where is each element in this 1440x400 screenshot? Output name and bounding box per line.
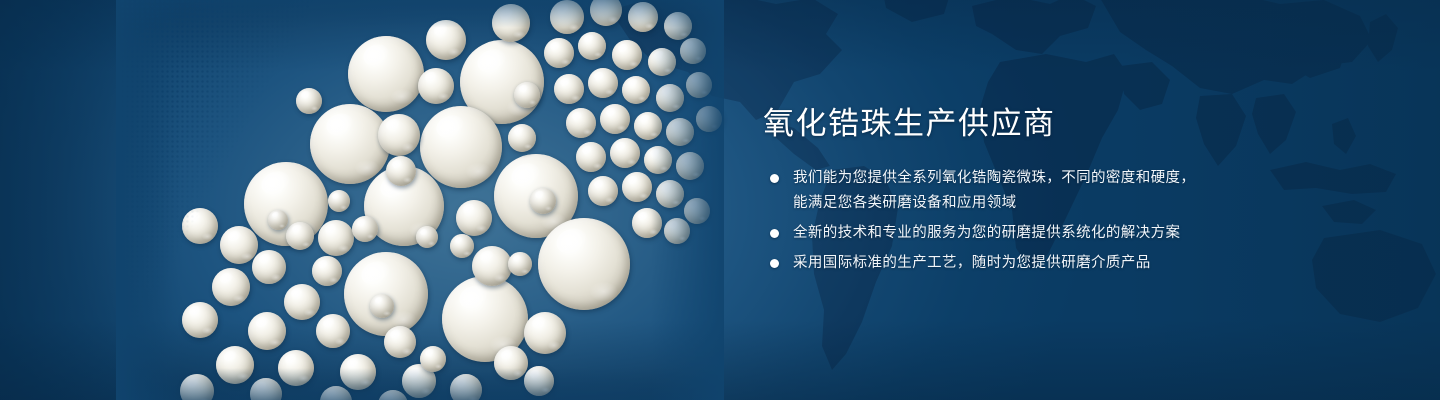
bead-small bbox=[320, 386, 352, 400]
bead-medium bbox=[318, 220, 354, 256]
bead-medium bbox=[456, 200, 492, 236]
bead-small bbox=[656, 84, 684, 112]
bead-medium bbox=[252, 250, 286, 284]
bullet-dot-icon bbox=[770, 259, 779, 268]
bead-medium bbox=[472, 246, 512, 286]
bead-small bbox=[648, 48, 676, 76]
bead-small bbox=[544, 38, 574, 68]
bead-medium bbox=[508, 124, 536, 152]
zirconia-beads-photo bbox=[120, 0, 720, 400]
bead-small bbox=[420, 346, 446, 372]
bead-small bbox=[550, 0, 584, 34]
bead-small bbox=[632, 208, 662, 238]
bead-medium bbox=[378, 114, 420, 156]
bead-small bbox=[588, 68, 618, 98]
bead-medium bbox=[340, 354, 376, 390]
bead-small bbox=[370, 294, 394, 318]
bead-small bbox=[600, 104, 630, 134]
bead-medium bbox=[220, 226, 258, 264]
bead-small bbox=[628, 2, 658, 32]
banner-headline: 氧化锆珠生产供应商 bbox=[763, 104, 1233, 144]
bead-small bbox=[634, 112, 662, 140]
bead-small bbox=[610, 138, 640, 168]
bead-medium bbox=[524, 312, 566, 354]
bead-small bbox=[622, 172, 652, 202]
bead-small bbox=[664, 218, 690, 244]
bead-medium bbox=[494, 346, 528, 380]
banner-copy: 氧化锆珠生产供应商 我们能为您提供全系列氧化锆陶瓷微珠，不同的密度和硬度， 能满… bbox=[763, 104, 1233, 281]
feature-text-line: 采用国际标准的生产工艺，随时为您提供研磨介质产品 bbox=[793, 251, 1233, 276]
bead-small bbox=[664, 12, 692, 40]
bead-small bbox=[666, 118, 694, 146]
bead-medium bbox=[492, 4, 530, 42]
bead-small bbox=[524, 366, 554, 396]
bead-medium bbox=[284, 284, 320, 320]
bullet-dot-icon bbox=[770, 174, 779, 183]
bead-small bbox=[450, 374, 482, 400]
bead-large bbox=[538, 218, 630, 310]
bead-medium bbox=[384, 326, 416, 358]
bead-medium bbox=[316, 314, 350, 348]
bullet-dot-icon bbox=[770, 229, 779, 238]
bead-small bbox=[576, 142, 606, 172]
feature-list: 我们能为您提供全系列氧化锆陶瓷微珠，不同的密度和硬度， 能满足您各类研磨设备和应… bbox=[763, 166, 1233, 276]
bead-small bbox=[686, 72, 712, 98]
bead-medium bbox=[386, 156, 416, 186]
hero-banner: 氧化锆珠生产供应商 我们能为您提供全系列氧化锆陶瓷微珠，不同的密度和硬度， 能满… bbox=[0, 0, 1440, 400]
feature-text-line: 我们能为您提供全系列氧化锆陶瓷微珠，不同的密度和硬度， bbox=[793, 166, 1233, 191]
bead-medium bbox=[296, 88, 322, 114]
bead-small bbox=[622, 76, 650, 104]
bead-small bbox=[644, 146, 672, 174]
bead-small bbox=[696, 106, 722, 132]
bead-small bbox=[328, 190, 350, 212]
bead-small bbox=[656, 180, 684, 208]
bead-small bbox=[590, 0, 622, 26]
bead-small bbox=[578, 32, 606, 60]
bead-medium bbox=[426, 20, 466, 60]
bead-medium bbox=[352, 216, 378, 242]
bead-large bbox=[420, 106, 502, 188]
bead-medium bbox=[450, 234, 474, 258]
bead-large bbox=[348, 36, 424, 112]
bead-medium bbox=[248, 312, 286, 350]
bead-small bbox=[566, 108, 596, 138]
bead-small bbox=[680, 38, 706, 64]
bead-medium bbox=[216, 346, 254, 384]
feature-text-line: 能满足您各类研磨设备和应用领域 bbox=[793, 191, 1233, 216]
bead-small bbox=[416, 226, 438, 248]
bead-large bbox=[310, 104, 390, 184]
feature-list-item: 采用国际标准的生产工艺，随时为您提供研磨介质产品 bbox=[763, 251, 1233, 276]
bead-small bbox=[268, 210, 288, 230]
bead-small bbox=[250, 378, 282, 400]
bead-small bbox=[514, 82, 540, 108]
bead-medium bbox=[312, 256, 342, 286]
feature-list-item: 全新的技术和专业的服务为您的研磨提供系统化的解决方案 bbox=[763, 221, 1233, 246]
bead-small bbox=[180, 374, 214, 400]
bead-medium bbox=[212, 268, 250, 306]
bead-small bbox=[508, 252, 532, 276]
bead-small bbox=[554, 74, 584, 104]
feature-text-line: 全新的技术和专业的服务为您的研磨提供系统化的解决方案 bbox=[793, 221, 1233, 246]
bead-cluster bbox=[120, 0, 720, 400]
bead-medium bbox=[278, 350, 314, 386]
bead-small bbox=[612, 40, 642, 70]
bead-medium bbox=[286, 222, 314, 250]
bead-small bbox=[676, 152, 704, 180]
bead-small bbox=[588, 176, 618, 206]
bead-small bbox=[378, 390, 408, 400]
feature-list-item: 我们能为您提供全系列氧化锆陶瓷微珠，不同的密度和硬度， 能满足您各类研磨设备和应… bbox=[763, 166, 1233, 216]
bead-medium bbox=[182, 208, 218, 244]
bead-small bbox=[684, 198, 710, 224]
bead-medium bbox=[182, 302, 218, 338]
bead-medium bbox=[418, 68, 454, 104]
bead-small bbox=[530, 188, 556, 214]
